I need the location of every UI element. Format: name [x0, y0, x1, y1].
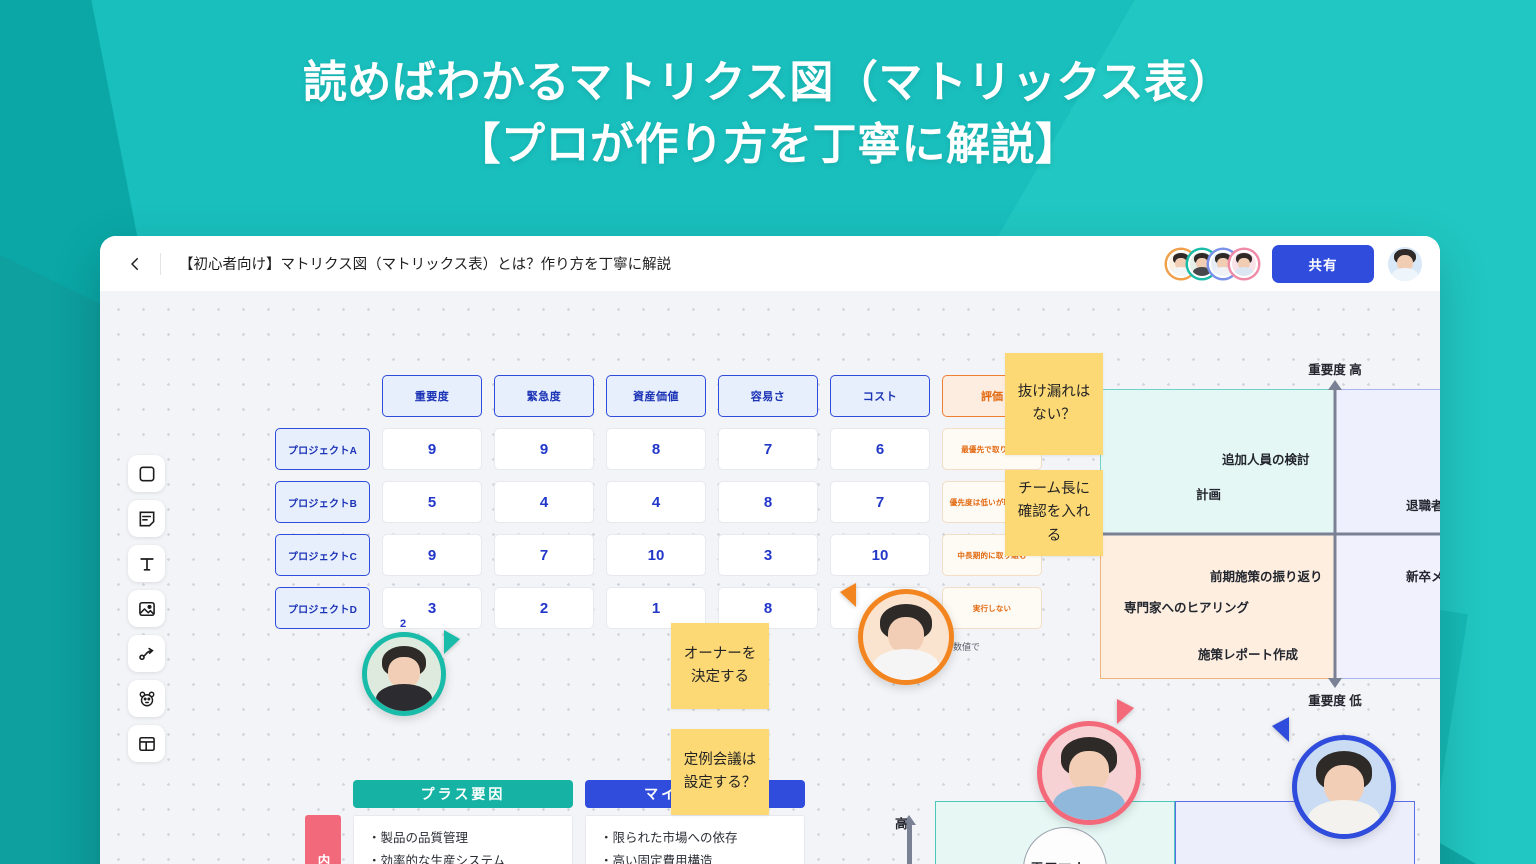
column-header[interactable]: 容易さ: [718, 375, 818, 417]
left-toolbar: [128, 455, 165, 762]
connector-icon[interactable]: [128, 635, 165, 672]
table-header-row: 重要度 緊急度 資産価値 容易さ コスト 評価: [275, 375, 1042, 417]
cursor-pointer-icon: [1117, 699, 1134, 724]
matrix-item[interactable]: 新卒メンバーのサポート: [1406, 566, 1440, 585]
row-header[interactable]: プロジェクトA: [275, 428, 370, 470]
axis-label-high: 高: [895, 813, 908, 832]
axis-label-importance-low: 重要度 低: [1308, 690, 1361, 709]
collaborator-avatars[interactable]: [1167, 250, 1258, 278]
matrix-item[interactable]: 専門家へのヒアリング: [1124, 597, 1249, 616]
table-cell[interactable]: 5: [382, 481, 482, 523]
evaluation-cell[interactable]: 実行しない: [942, 587, 1042, 629]
cursor-pointer-icon: [444, 630, 460, 654]
list-item: 効率的な生産システム: [368, 850, 558, 864]
axis-arrow-up-icon: [1328, 380, 1342, 390]
table-cell[interactable]: 7: [830, 481, 930, 523]
table-cell[interactable]: 9: [494, 428, 594, 470]
header-divider: [160, 253, 161, 275]
cursor-pink[interactable]: [1037, 721, 1141, 825]
table-cell[interactable]: 8: [606, 428, 706, 470]
avatar[interactable]: [1230, 250, 1258, 278]
list-item: 限られた市場への依存: [600, 827, 790, 850]
shape-icon[interactable]: [128, 455, 165, 492]
app-window: 【初心者向け】マトリクス図（マトリックス表）とは？作り方を丁寧に解説 共有: [100, 236, 1440, 864]
table-row: プロジェクトA 9 9 8 7 6 最優先で取り組む: [275, 428, 1042, 470]
column-header[interactable]: 緊急度: [494, 375, 594, 417]
cursor-teal[interactable]: 2: [362, 632, 446, 716]
table-cell[interactable]: 7: [718, 428, 818, 470]
page-title: 【初心者向け】マトリクス図（マトリックス表）とは？作り方を丁寧に解説: [179, 253, 671, 274]
matrix-item[interactable]: 前期施策の振り返り: [1210, 566, 1323, 585]
horizontal-axis: [1100, 533, 1440, 536]
matrix-item[interactable]: 退職者のケア: [1406, 495, 1440, 514]
table-cell[interactable]: 4: [494, 481, 594, 523]
table-row: プロジェクトC 9 7 10 3 10 中長期的に取り組む: [275, 534, 1042, 576]
table-cell[interactable]: 10: [606, 534, 706, 576]
table-cell[interactable]: 6: [830, 428, 930, 470]
column-header[interactable]: 重要度: [382, 375, 482, 417]
table-cell[interactable]: 10: [830, 534, 930, 576]
image-icon[interactable]: [128, 590, 165, 627]
table-cell[interactable]: 4: [606, 481, 706, 523]
sticky-note[interactable]: 抜け漏れはない？: [1005, 353, 1103, 455]
row-header[interactable]: プロジェクトB: [275, 481, 370, 523]
sticky-note[interactable]: チーム長に確認を入れる: [1005, 470, 1103, 556]
list-item: 製品の品質管理: [368, 827, 558, 850]
board-canvas[interactable]: 重要度 緊急度 資産価値 容易さ コスト 評価 プロジェクトA 9 9 8 7 …: [100, 291, 1440, 864]
table-cell[interactable]: 8: [718, 481, 818, 523]
matrix-item[interactable]: 施策レポート作成: [1198, 644, 1298, 663]
table-cell[interactable]: 9: [382, 428, 482, 470]
table-corner-cell: [275, 375, 370, 417]
table-cell[interactable]: 3: [382, 587, 482, 629]
table-cell[interactable]: 7: [494, 534, 594, 576]
sticky-note[interactable]: オーナーを決定する: [671, 623, 769, 709]
axis-arrow-down-icon: [1328, 678, 1342, 688]
importance-urgency-matrix[interactable]: 重要度 高 重要度 低 緊急度 低 追加人員の検討 計画 炎上案件の 広告コスト…: [1100, 389, 1440, 679]
swot-body: 内部環境 製品の品質管理 効率的な生産システム 熟練した労働力 革新的な研究開発…: [305, 815, 805, 864]
axis-label-importance-high: 重要度 高: [1308, 359, 1361, 378]
quadrant-bottom-right[interactable]: [1335, 534, 1440, 679]
hero-title: 読めばわかるマトリクス図（マトリックス表） 【プロが作り方を丁寧に解説】: [0, 52, 1536, 177]
table-cell[interactable]: 9: [382, 534, 482, 576]
chevron-left-icon[interactable]: [122, 251, 148, 277]
cursor-pointer-icon: [1272, 717, 1289, 742]
column-header[interactable]: コスト: [830, 375, 930, 417]
table-cell[interactable]: 2: [494, 587, 594, 629]
cursor-blue[interactable]: [1292, 735, 1396, 839]
table-row: プロジェクトB 5 4 4 8 7 優先度は低いが取り組む: [275, 481, 1042, 523]
sticky-note[interactable]: 定例会議は設定する？: [671, 729, 769, 815]
hero-title-line2: 【プロが作り方を丁寧に解説】: [0, 114, 1536, 176]
swot-side-label: 内部環境: [305, 815, 341, 864]
current-user-avatar[interactable]: [1388, 247, 1422, 281]
table-cell[interactable]: 3: [718, 534, 818, 576]
swot-plus-column[interactable]: 製品の品質管理 効率的な生産システム 熟練した労働力 革新的な研究開発 協力なブ…: [353, 815, 573, 864]
text-icon[interactable]: [128, 545, 165, 582]
hero-title-line1: 読めばわかるマトリクス図（マトリックス表）: [0, 52, 1536, 114]
cursor-badge: 2: [400, 618, 406, 630]
sticker-bear-icon[interactable]: [128, 680, 165, 717]
app-header: 【初心者向け】マトリクス図（マトリックス表）とは？作り方を丁寧に解説 共有: [100, 236, 1440, 291]
template-icon[interactable]: [128, 725, 165, 762]
cursor-orange[interactable]: [858, 589, 954, 685]
matrix-item[interactable]: 追加人員の検討: [1222, 449, 1310, 468]
share-button[interactable]: 共有: [1272, 245, 1374, 283]
sticky-note-icon[interactable]: [128, 500, 165, 537]
row-header[interactable]: プロジェクトC: [275, 534, 370, 576]
swot-plus-header[interactable]: プラス要因: [353, 780, 573, 808]
row-header[interactable]: プロジェクトD: [275, 587, 370, 629]
swot-minus-column[interactable]: 限られた市場への依存 高い固定費用構造 製品ラインナップの乏しさ 組織の柔軟性不…: [585, 815, 805, 864]
cursor-pointer-icon: [840, 583, 856, 607]
list-item: 高い固定費用構造: [600, 850, 790, 864]
header-actions: 共有: [1167, 245, 1422, 283]
column-header[interactable]: 資産価値: [606, 375, 706, 417]
matrix-item[interactable]: 計画: [1196, 484, 1221, 503]
